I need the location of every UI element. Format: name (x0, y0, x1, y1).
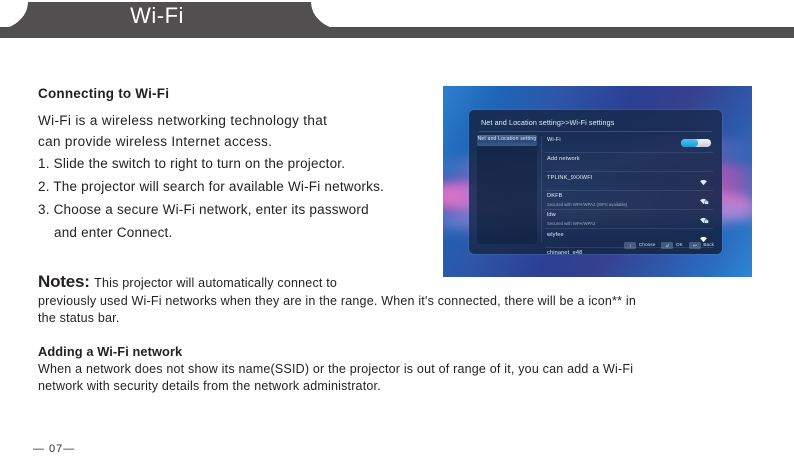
osd-row-label: DKFB (547, 193, 563, 199)
step-1: 1. Slide the switch to right to turn on … (38, 152, 430, 175)
osd-row-security: Secured with WPA/WPA2 (WPS available) (547, 202, 627, 207)
osd-row-label: ldw (547, 212, 556, 218)
osd-row-label: Add network (547, 156, 580, 162)
hint-back: ↩ Back (689, 242, 714, 249)
osd-row-label: TPLINK_9XXWFI (547, 175, 592, 181)
osd-sidebar (477, 134, 537, 244)
osd-breadcrumb: Net and Location setting>>Wi-Fi settings (481, 118, 614, 127)
adding-body-line: When a network does not show its name(SS… (38, 362, 633, 376)
osd-row-network[interactable]: TPLINK_9XXWFI (545, 172, 713, 191)
notes-body: previously used Wi-Fi networks when they… (38, 293, 756, 326)
hint-ok: ↲ OK (661, 242, 682, 249)
step-3-continuation: and enter Connect. (38, 221, 430, 244)
section-heading: Connecting to Wi-Fi (38, 86, 430, 101)
adding-last-line: network with security details from the n… (38, 378, 758, 395)
intro-line-2: can provide wireless Internet access. (38, 131, 430, 152)
osd-row-label: wlyfee (547, 232, 564, 238)
wifi-open-icon (698, 177, 709, 186)
intro-line-1: Wi-Fi is a wireless networking technolog… (38, 110, 430, 131)
hint-choose: ↕ Choose (624, 242, 655, 249)
notes-section: Notes: This projector will automatically… (38, 272, 760, 326)
connecting-section: Connecting to Wi-Fi Wi-Fi is a wireless … (38, 86, 430, 244)
notes-body-line: previously used Wi-Fi networks when they… (38, 294, 636, 308)
wifi-locked-icon (698, 253, 709, 254)
osd-title-divider (479, 131, 712, 132)
hint-key-icon: ↕ (624, 242, 636, 249)
osd-row-label: chinanet_e48 (547, 250, 582, 254)
page-number: — 07— (33, 443, 75, 455)
page-title: Wi-Fi (62, 3, 252, 29)
wifi-toggle-knob (698, 139, 711, 147)
step-3: 3. Choose a secure Wi-Fi network, enter … (38, 198, 430, 221)
projector-wifi-settings-screenshot: Net and Location setting>>Wi-Fi settings… (443, 86, 752, 277)
hint-label: OK (676, 243, 683, 248)
hint-label: Choose (639, 243, 656, 248)
osd-hint-bar: ↕ Choose ↲ OK ↩ Back (624, 242, 714, 249)
notes-last-line: the status bar. (38, 310, 756, 327)
wifi-locked-icon (698, 215, 709, 224)
page-header: Wi-Fi (0, 0, 794, 40)
osd-row-network[interactable]: DKFB Secured with WPA/WPA2 (WPS availabl… (545, 191, 713, 210)
osd-panel: Net and Location setting>>Wi-Fi settings… (469, 110, 722, 254)
osd-sidebar-selected-label: Net and Location setting (477, 136, 537, 142)
osd-row-security: Secured with WPA/WPA2 (547, 221, 595, 226)
adding-heading: Adding a Wi-Fi network (38, 344, 760, 359)
hint-key-icon: ↲ (661, 242, 673, 249)
wifi-locked-icon (698, 196, 709, 205)
notes-label: Notes: (38, 272, 90, 291)
osd-row-label: Wi-Fi (547, 137, 561, 143)
adding-body: When a network does not show its name(SS… (38, 361, 758, 395)
hint-label: Back (703, 243, 714, 248)
osd-row-add-network[interactable]: Add network (545, 153, 713, 172)
osd-row-network[interactable]: ldw Secured with WPA/WPA2 (545, 210, 713, 229)
osd-sidebar-selected-item[interactable]: Net and Location setting (477, 135, 537, 146)
notes-first-row: Notes: This projector will automatically… (38, 272, 760, 292)
notes-first-line: This projector will automatically connec… (94, 276, 337, 290)
hint-key-icon: ↩ (689, 242, 701, 249)
osd-row-wifi-toggle[interactable]: Wi-Fi (545, 134, 713, 153)
osd-sidebar-divider (541, 136, 542, 242)
step-2: 2. The projector will search for availab… (38, 175, 430, 198)
wifi-toggle-switch[interactable] (681, 139, 711, 147)
wifi-toggle-fill (681, 139, 698, 147)
adding-network-section: Adding a Wi-Fi network When a network do… (38, 344, 760, 395)
